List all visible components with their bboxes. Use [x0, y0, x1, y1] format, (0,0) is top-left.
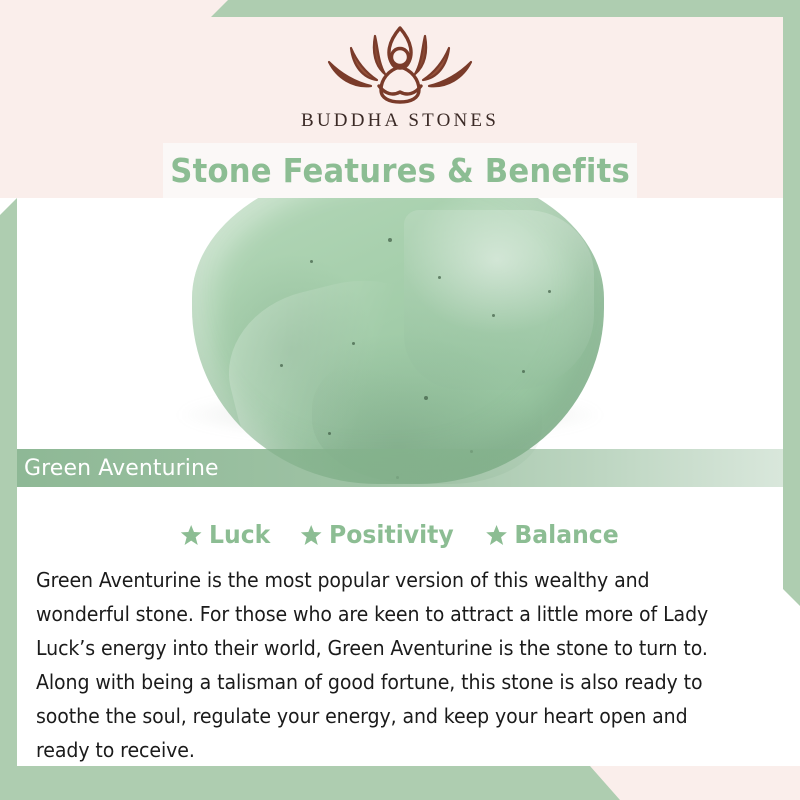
- stone-speck: [328, 432, 331, 435]
- stone-speck: [388, 238, 392, 242]
- star-icon: [180, 523, 203, 547]
- stone-name-label: Green Aventurine: [24, 456, 219, 481]
- stone-speck: [280, 364, 283, 367]
- page-title-band: Stone Features & Benefits: [163, 143, 637, 198]
- keyword-item-luck: Luck: [180, 520, 270, 549]
- stone-name-band: Green Aventurine: [10, 449, 790, 487]
- stone-description: Green Aventurine is the most popular ver…: [36, 563, 719, 767]
- keyword-label: Balance: [514, 520, 618, 549]
- content-section: Luck Positivity Balance Green Aventurine…: [0, 498, 800, 766]
- stone-speck: [438, 276, 441, 279]
- brand-name: BUDDHA STONES: [0, 110, 800, 132]
- stone-speck: [310, 260, 313, 263]
- keyword-item-positivity: Positivity: [300, 520, 454, 549]
- star-icon: [300, 523, 323, 547]
- keyword-list: Luck Positivity Balance: [0, 520, 800, 549]
- brand-logo: BUDDHA STONES: [0, 22, 800, 132]
- header-section: BUDDHA STONES Stone Features & Benefits: [0, 0, 800, 198]
- star-icon: [485, 523, 508, 547]
- footer-strip: [0, 766, 800, 800]
- keyword-item-balance: Balance: [485, 520, 618, 549]
- keyword-label: Positivity: [329, 520, 454, 549]
- stone-speck: [352, 342, 355, 345]
- stone-benefits-infographic: BUDDHA STONES Stone Features & Benefits: [0, 0, 800, 800]
- stone-speck: [522, 370, 525, 373]
- lotus-meditation-figure-icon: [315, 22, 485, 108]
- stone-speck: [492, 314, 495, 317]
- keyword-label: Luck: [209, 520, 270, 549]
- green-aventurine-stone-image: [192, 198, 604, 484]
- stone-speck: [548, 290, 551, 293]
- page-title: Stone Features & Benefits: [170, 151, 630, 190]
- stone-speck: [424, 396, 428, 400]
